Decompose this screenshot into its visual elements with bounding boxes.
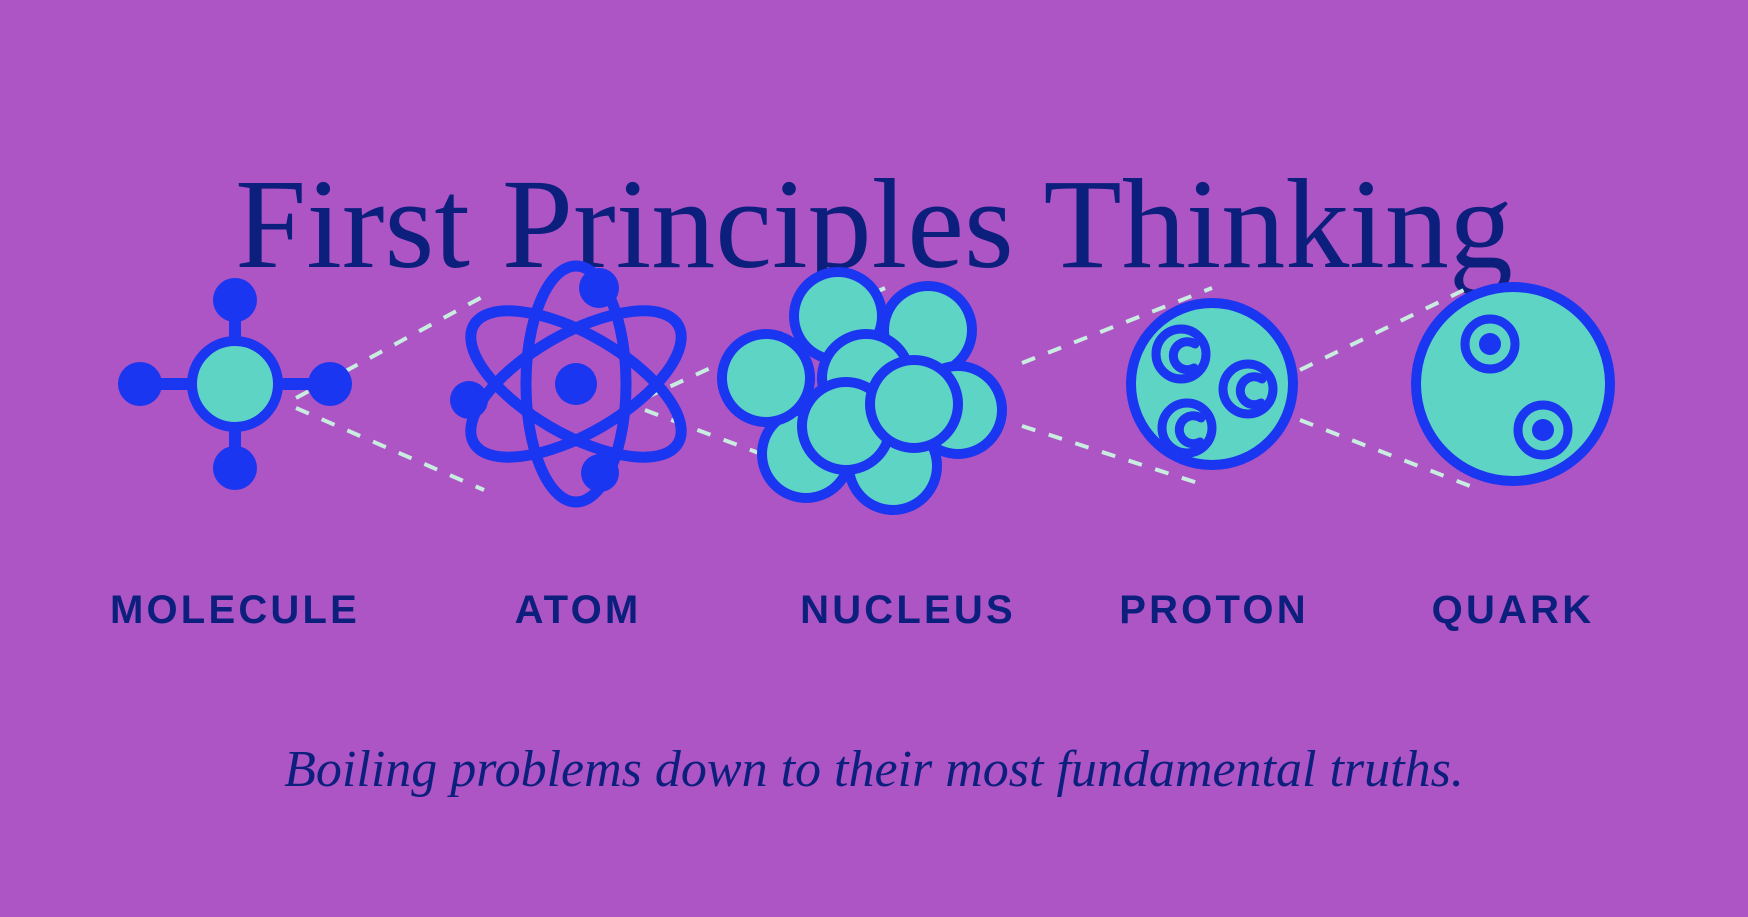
quark-icon	[1416, 287, 1610, 481]
quark-body	[1416, 287, 1610, 481]
step-label-atom: ATOM	[515, 582, 642, 638]
proton-icon	[1131, 303, 1293, 465]
step-label-molecule: MOLECULE	[110, 582, 360, 638]
nucleus-icon	[722, 272, 1002, 510]
molecule-icon	[118, 278, 352, 490]
atom-electron-lower	[581, 454, 619, 492]
molecule-satellite-top	[213, 278, 257, 322]
nucleon-mid-3	[870, 360, 958, 448]
molecule-satellite-bottom	[213, 446, 257, 490]
diagram-stage	[0, 258, 1748, 518]
atom-nucleus-dot	[555, 363, 597, 405]
atom-electron-upper-right	[579, 268, 619, 308]
molecule-satellite-right	[308, 362, 352, 406]
molecule-core	[192, 341, 278, 427]
step-labels: MOLECULE ATOM NUCLEUS PROTON QUARK	[0, 582, 1748, 638]
atom-icon	[449, 266, 703, 502]
step-label-proton: PROTON	[1119, 582, 1309, 638]
science-scale-diagram	[0, 258, 1748, 518]
nucleon-back-6	[722, 334, 810, 422]
page-subtitle: Boiling problems down to their most fund…	[0, 740, 1748, 800]
molecule-satellite-left	[118, 362, 162, 406]
infographic-poster: First Principles Thinking	[0, 0, 1748, 917]
connector-molecule-atom-bottom	[296, 408, 484, 490]
atom-electron-left	[450, 381, 488, 419]
step-label-quark: QUARK	[1432, 582, 1595, 638]
step-label-nucleus: NUCLEUS	[800, 582, 1016, 638]
